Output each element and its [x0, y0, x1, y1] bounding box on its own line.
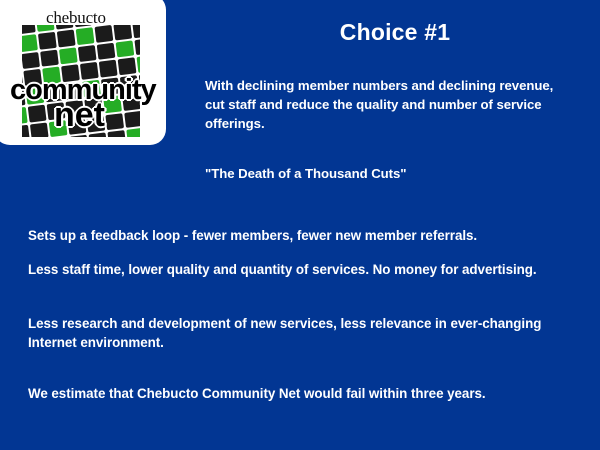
mosaic-tile [22, 124, 30, 137]
mosaic-tile [94, 25, 113, 42]
mosaic-tile [38, 32, 57, 50]
mosaic-tile [118, 58, 137, 76]
mosaic-tile [22, 25, 36, 34]
mosaic-tile [76, 27, 95, 45]
mosaic-tile [57, 29, 76, 47]
mosaic-tile [59, 47, 78, 65]
mosaic-tile [78, 45, 97, 63]
mosaic-tile [134, 38, 140, 56]
mosaic-tile [40, 49, 59, 67]
mosaic-tile [132, 25, 140, 38]
slide-title: Choice #1 [200, 19, 590, 45]
mosaic-tile [22, 52, 40, 70]
mosaic-tile [36, 25, 55, 32]
chebucto-logo-card: chebucto [0, 0, 166, 145]
presentation-slide: chebucto [0, 0, 600, 450]
mosaic-tile [137, 55, 140, 73]
body-paragraph: Less staff time, lower quality and quant… [28, 260, 573, 279]
mosaic-tile [107, 130, 126, 137]
mosaic-tile [30, 122, 49, 137]
mosaic-tile [55, 25, 74, 29]
intro-statement-text: With declining member numbers and declin… [205, 76, 570, 133]
mosaic-tile [22, 107, 28, 125]
mosaic-tile [126, 128, 140, 137]
mosaic-tile [116, 40, 135, 58]
mosaic-tile [22, 34, 38, 52]
mosaic-tile [70, 135, 89, 137]
mosaic-tile [97, 42, 116, 60]
mosaic-tile [28, 104, 47, 122]
body-paragraph: Less research and development of new ser… [28, 314, 573, 352]
mosaic-tile [105, 113, 124, 131]
intro-quote-text: "The Death of a Thousand Cuts" [205, 164, 570, 183]
mosaic-tile [124, 110, 140, 128]
body-paragraph-conclusion: We estimate that Chebucto Community Net … [28, 384, 573, 403]
logo-wordmark-net: net [54, 98, 105, 132]
logo-artwork: chebucto [0, 0, 166, 145]
mosaic-tile [113, 25, 132, 40]
body-paragraph: Sets up a feedback loop - fewer members,… [28, 226, 573, 245]
